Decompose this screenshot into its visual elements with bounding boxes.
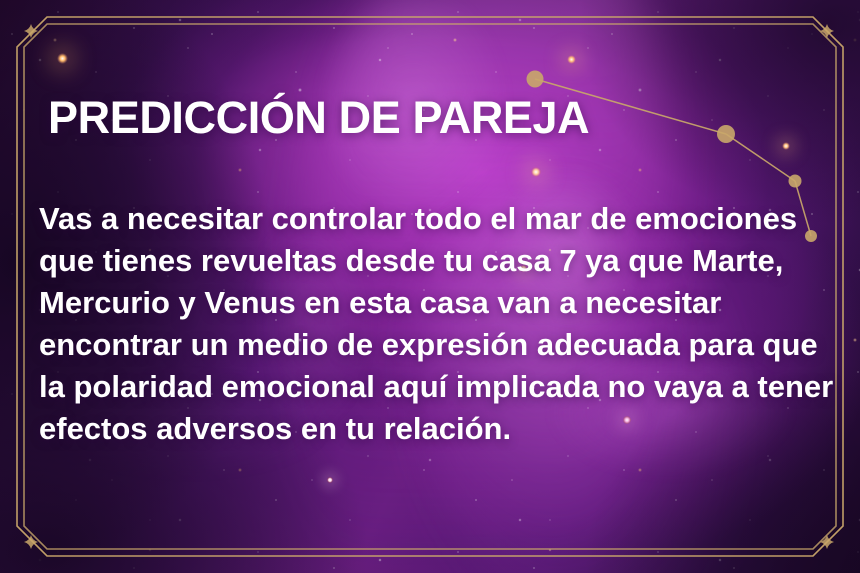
card-content: PREDICCIÓN DE PAREJA Vas a necesitar con… bbox=[0, 0, 860, 573]
prediction-card: PREDICCIÓN DE PAREJA Vas a necesitar con… bbox=[0, 0, 860, 573]
prediction-body-text: Vas a necesitar controlar todo el mar de… bbox=[39, 198, 839, 450]
page-title: PREDICCIÓN DE PAREJA bbox=[48, 92, 589, 144]
